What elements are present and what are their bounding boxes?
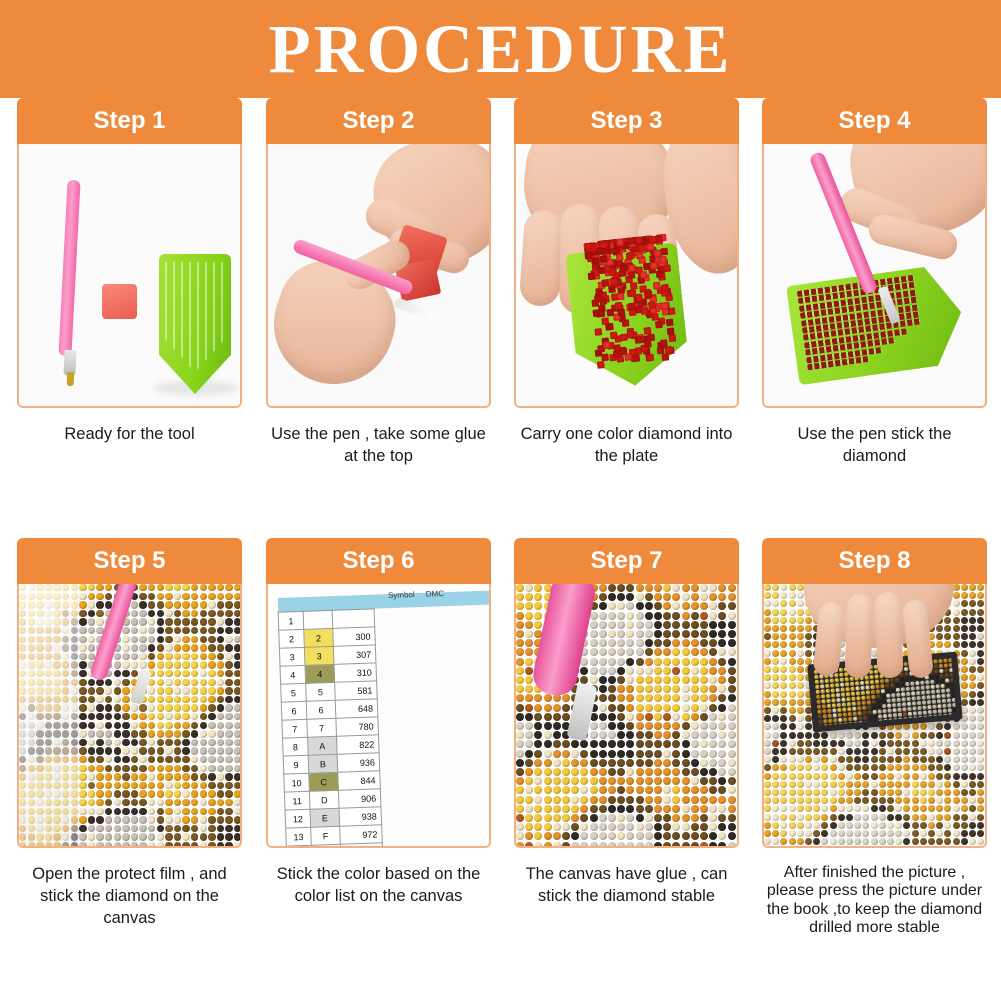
diamond-bead	[863, 711, 867, 715]
diamond-bead	[837, 703, 841, 707]
diamond-bead	[217, 670, 224, 677]
diamond-bead	[797, 625, 804, 632]
diamond-bead	[157, 808, 164, 815]
diamond-bead	[208, 730, 215, 737]
diamond-bead	[916, 691, 920, 695]
diamond-bead	[879, 748, 886, 755]
diamond-bead	[797, 707, 804, 714]
diamond-bead	[872, 705, 876, 709]
diamond-bead	[525, 713, 533, 721]
diamond-bead	[647, 243, 655, 251]
diamond-bead	[805, 773, 812, 780]
diamond-bead	[789, 814, 796, 821]
diamond-bead	[737, 796, 739, 804]
diamond-bead	[830, 764, 837, 771]
diamond-bead	[617, 667, 625, 675]
diamond-bead	[516, 777, 524, 785]
diamond-bead	[903, 822, 910, 829]
diamond-bead	[906, 687, 910, 691]
diamond-bead	[645, 630, 653, 638]
diamond-bead	[599, 584, 607, 592]
diamond-bead	[780, 805, 787, 812]
diamond-bead	[944, 781, 951, 788]
diamond-bead	[691, 612, 699, 620]
diamond-bead	[191, 636, 198, 643]
diamond-bead	[165, 773, 172, 780]
diamond-bead	[139, 653, 146, 660]
diamond-bead	[617, 823, 625, 831]
diamond-bead	[805, 781, 812, 788]
diamond-bead	[953, 617, 960, 624]
diamond-bead	[977, 674, 984, 681]
diamond-bead	[672, 639, 680, 647]
diamond-bead	[828, 719, 832, 723]
diamond-bead	[122, 842, 129, 848]
color-list-table: 12230033307443105558166648777808A8229B93…	[278, 608, 384, 848]
diamond-bead	[672, 722, 680, 730]
diamond-bead	[525, 759, 533, 767]
diamond-bead	[885, 679, 889, 683]
diamond-bead	[580, 768, 588, 776]
diamond-bead	[830, 822, 837, 829]
diamond-bead	[225, 679, 232, 686]
diamond-bead	[191, 747, 198, 754]
diamond-bead	[930, 680, 934, 684]
diamond-bead	[139, 722, 146, 729]
diamond-bead	[814, 675, 818, 679]
step-3-label: Step 3	[590, 107, 662, 135]
diamond-bead	[208, 661, 215, 668]
diamond-bead	[920, 723, 927, 730]
step-card-1: Step 1 Ready for the tool	[17, 98, 242, 446]
diamond-bead	[96, 833, 103, 840]
diamond-bead	[122, 670, 129, 677]
diamond-bead	[977, 641, 984, 648]
diamond-bead	[663, 593, 671, 601]
diamond-bead	[951, 693, 955, 697]
diamond-bead	[96, 704, 103, 711]
diamond-bead	[709, 750, 717, 758]
diamond-bead	[208, 808, 215, 815]
diamond-bead	[890, 683, 894, 687]
diamond-bead	[654, 667, 662, 675]
diamond-bead	[682, 602, 690, 610]
diamond-bead	[516, 740, 524, 748]
diamond-bead	[617, 621, 625, 629]
diamond-bead	[853, 717, 857, 721]
diamond-bead	[148, 773, 155, 780]
diamond-bead	[985, 715, 987, 722]
diamond-bead	[830, 814, 837, 821]
diamond-bead	[645, 805, 653, 813]
diamond-bead	[614, 344, 622, 352]
diamond-bead	[780, 773, 787, 780]
scene-canvas-glue	[516, 584, 737, 846]
diamond-bead	[928, 822, 935, 829]
diamond-bead	[789, 682, 796, 689]
diamond-bead	[525, 796, 533, 804]
diamond-bead	[174, 618, 181, 625]
diamond-bead	[728, 759, 736, 767]
diamond-bead	[525, 593, 533, 601]
diamond-bead	[780, 830, 787, 837]
diamond-bead	[599, 676, 607, 684]
diamond-bead	[805, 732, 812, 739]
diamond-bead	[709, 584, 717, 592]
diamond-bead	[139, 816, 146, 823]
diamond-bead	[191, 593, 198, 600]
diamond-bead	[895, 748, 902, 755]
diamond-bead	[903, 789, 910, 796]
diamond-bead	[718, 740, 726, 748]
diamond-bead	[905, 682, 909, 686]
diamond-bead	[666, 318, 674, 326]
diamond-bead	[516, 602, 524, 610]
diamond-bead	[961, 691, 968, 698]
diamond-bead	[148, 618, 155, 625]
row-symbol: 4	[305, 664, 335, 683]
diamond-bead	[930, 675, 934, 679]
diamond-bead	[780, 609, 787, 616]
diamond-bead	[985, 666, 987, 673]
diamond-bead	[599, 694, 607, 702]
diamond-bead	[516, 694, 524, 702]
diamond-bead	[217, 730, 224, 737]
diamond-bead	[182, 696, 189, 703]
diamond-bead	[157, 722, 164, 729]
step-6-label: Step 6	[342, 547, 414, 575]
diamond-bead	[217, 687, 224, 694]
diamond-bead	[191, 773, 198, 780]
diamond-bead	[591, 300, 599, 308]
diamond-bead	[728, 842, 736, 848]
diamond-bead	[833, 713, 837, 717]
diamond-bead	[217, 825, 224, 832]
diamond-bead	[977, 723, 984, 730]
diamond-bead	[934, 669, 938, 673]
diamond-bead	[878, 714, 882, 718]
diamond-bead	[700, 814, 708, 822]
diamond-bead	[602, 354, 610, 362]
diamond-bead	[234, 747, 241, 754]
diamond-bead	[819, 725, 823, 726]
diamond-bead	[900, 677, 904, 681]
diamond-bead	[985, 789, 987, 796]
diamond-bead	[191, 765, 198, 772]
diamond-bead	[626, 658, 634, 666]
diamond-bead	[208, 670, 215, 677]
diamond-bead	[139, 756, 146, 763]
diamond-bead	[525, 685, 533, 693]
diamond-bead	[562, 786, 570, 794]
diamond-bead	[626, 823, 634, 831]
row-number: 11	[284, 791, 310, 810]
diamond-bead	[821, 805, 828, 812]
diamond-bead	[544, 731, 552, 739]
diamond-bead	[217, 790, 224, 797]
diamond-bead	[985, 650, 987, 657]
diamond-bead	[846, 764, 853, 771]
diamond-bead	[599, 685, 607, 693]
diamond-bead	[797, 617, 804, 624]
step-7-header: Step 7	[514, 538, 739, 584]
diamond-bead	[553, 786, 561, 794]
diamond-bead	[96, 584, 103, 591]
diamond-bead	[813, 732, 820, 739]
diamond-bead	[608, 612, 616, 620]
diamond-bead	[835, 678, 839, 682]
row-number: 12	[285, 809, 311, 828]
diamond-bead	[174, 653, 181, 660]
diamond-bead	[821, 838, 828, 845]
diamond-bead	[977, 797, 984, 804]
diamond-bead	[764, 764, 771, 771]
diamond-bead	[700, 740, 708, 748]
diamond-bead	[931, 695, 935, 699]
diamond-bead	[691, 722, 699, 730]
diamond-bead	[928, 781, 935, 788]
diamond-bead	[148, 790, 155, 797]
diamond-bead	[629, 289, 637, 297]
diamond-bead	[182, 687, 189, 694]
diamond-bead	[985, 732, 987, 739]
diamond-bead	[590, 786, 598, 794]
diamond-bead	[148, 730, 155, 737]
row-number: 3	[279, 647, 305, 666]
diamond-bead	[764, 600, 771, 607]
diamond-bead	[700, 685, 708, 693]
diamond-bead	[157, 670, 164, 677]
diamond-bead	[969, 797, 976, 804]
diamond-bead	[691, 593, 699, 601]
diamond-bead	[645, 602, 653, 610]
diamond-bead	[165, 756, 172, 763]
diamond-bead	[817, 710, 821, 714]
diamond-bead	[764, 715, 771, 722]
diamond-bead	[200, 610, 207, 617]
diamond-bead	[590, 832, 598, 840]
diamond-bead	[617, 796, 625, 804]
diamond-bead	[131, 730, 138, 737]
diamond-bead	[625, 252, 633, 260]
diamond-bead	[682, 805, 690, 813]
diamond-bead	[617, 293, 625, 301]
diamond-bead	[672, 768, 680, 776]
diamond-bead	[928, 756, 935, 763]
diamond-bead	[895, 838, 902, 845]
diamond-bead	[225, 816, 232, 823]
diamond-bead	[617, 786, 625, 794]
diamond-bead	[191, 661, 198, 668]
row-symbol: D	[309, 790, 339, 809]
scene-color-list: Symbol DMC 12230033307443105558166648777…	[268, 584, 489, 846]
diamond-bead	[626, 750, 634, 758]
diamond-bead	[79, 790, 86, 797]
diamond-bead	[174, 790, 181, 797]
diamond-bead	[848, 712, 852, 716]
diamond-bead	[772, 584, 779, 591]
diamond-bead	[234, 584, 241, 591]
diamond-bead	[961, 682, 968, 689]
diamond-bead	[157, 601, 164, 608]
diamond-bead	[944, 822, 951, 829]
step-5-header: Step 5	[17, 538, 242, 584]
diamond-bead	[610, 278, 618, 286]
diamond-bead	[891, 693, 895, 697]
diamond-bead	[599, 786, 607, 794]
diamond-bead	[893, 718, 897, 722]
diamond-bead	[921, 691, 925, 695]
diamond-bead	[114, 790, 121, 797]
diamond-bead	[805, 633, 812, 640]
diamond-bead	[122, 704, 129, 711]
diamond-bead	[599, 805, 607, 813]
diamond-bead	[940, 674, 944, 678]
diamond-bead	[636, 621, 644, 629]
diamond-bead	[789, 691, 796, 698]
diamond-bead	[114, 765, 121, 772]
diamond-bead	[208, 722, 215, 729]
diamond-bead	[553, 805, 561, 813]
diamond-bead	[836, 698, 840, 702]
diamond-bead	[165, 618, 172, 625]
diamond-bead	[516, 722, 524, 730]
diamond-bead	[948, 713, 952, 717]
diamond-bead	[208, 679, 215, 686]
diamond-bead	[96, 687, 103, 694]
diamond-bead	[933, 710, 937, 714]
diamond-bead	[862, 732, 869, 739]
diamond-bead	[217, 722, 224, 729]
diamond-bead	[977, 781, 984, 788]
diamond-bead	[928, 797, 935, 804]
diamond-bead	[700, 630, 708, 638]
diamond-bead	[571, 750, 579, 758]
diamond-bead	[718, 648, 726, 656]
diamond-bead	[888, 718, 892, 722]
diamond-bead	[969, 781, 976, 788]
diamond-bead	[165, 799, 172, 806]
diamond-bead	[737, 722, 739, 730]
diamond-bead	[553, 759, 561, 767]
diamond-bead	[599, 740, 607, 748]
diamond-bead	[191, 816, 198, 823]
diamond-bead	[944, 732, 951, 739]
diamond-bead	[191, 627, 198, 634]
diamond-bead	[200, 696, 207, 703]
diamond-bead	[79, 833, 86, 840]
diamond-bead	[617, 630, 625, 638]
diamond-bead	[862, 756, 869, 763]
diamond-bead	[896, 688, 900, 692]
diamond-bead	[985, 723, 987, 730]
diamond-bead	[700, 768, 708, 776]
diamond-bead	[837, 708, 841, 712]
diamond-bead	[862, 822, 869, 829]
diamond-bead	[969, 838, 976, 845]
diamond-bead	[682, 685, 690, 693]
diamond-bead	[114, 687, 121, 694]
diamond-bead	[182, 644, 189, 651]
diamond-bead	[79, 696, 86, 703]
diamond-bead	[626, 777, 634, 785]
diamond-bead	[131, 842, 138, 848]
diamond-bead	[516, 786, 524, 794]
diamond-bead	[831, 698, 835, 702]
diamond-bead	[985, 699, 987, 706]
diamond-bead	[534, 694, 542, 702]
diamond-bead	[910, 681, 914, 685]
diamond-bead	[839, 723, 843, 726]
diamond-bead	[217, 601, 224, 608]
diamond-bead	[691, 777, 699, 785]
diamond-bead	[105, 782, 112, 789]
diamond-bead	[928, 838, 935, 845]
diamond-bead	[534, 593, 542, 601]
diamond-bead	[79, 713, 86, 720]
diamond-bead	[645, 750, 653, 758]
diamond-bead	[953, 814, 960, 821]
diamond-bead	[903, 838, 910, 845]
diamond-bead	[737, 768, 739, 776]
diamond-bead	[544, 750, 552, 758]
procedure-poster: PROCEDURE Step 1	[0, 0, 1001, 1001]
diamond-bead	[157, 584, 164, 591]
diamond-bead	[626, 612, 634, 620]
diamond-bead	[764, 723, 771, 730]
diamond-bead	[165, 601, 172, 608]
diamond-bead	[780, 617, 787, 624]
diamond-bead	[534, 777, 542, 785]
diamond-bead	[977, 699, 984, 706]
diamond-bead	[208, 713, 215, 720]
diamond-bead	[830, 756, 837, 763]
diamond-bead	[700, 796, 708, 804]
diamond-bead	[865, 680, 869, 684]
diamond-bead	[88, 601, 95, 608]
diamond-bead	[122, 653, 129, 660]
diamond-bead	[797, 814, 804, 821]
diamond-bead	[912, 701, 916, 705]
diamond-bead	[617, 685, 625, 693]
diamond-bead	[88, 687, 95, 694]
diamond-bead	[682, 786, 690, 794]
diamond-bead	[855, 686, 859, 690]
diamond-bead	[654, 648, 662, 656]
step-7-label: Step 7	[590, 547, 662, 575]
diamond-bead	[165, 730, 172, 737]
diamond-bead	[961, 625, 968, 632]
diamond-bead	[764, 699, 771, 706]
diamond-bead	[873, 710, 877, 714]
diamond-bead	[148, 825, 155, 832]
diamond-bead	[941, 689, 945, 693]
diamond-bead	[516, 796, 524, 804]
diamond-bead	[608, 750, 616, 758]
diamond-bead	[645, 667, 653, 675]
diamond-bead	[903, 732, 910, 739]
diamond-bead	[700, 621, 708, 629]
diamond-bead	[148, 636, 155, 643]
diamond-bead	[672, 842, 680, 848]
diamond-bead	[225, 790, 232, 797]
diamond-bead	[700, 584, 708, 592]
diamond-bead	[946, 683, 950, 687]
diamond-bead	[217, 610, 224, 617]
diamond-bead	[854, 764, 861, 771]
diamond-bead	[797, 748, 804, 755]
diamond-bead	[846, 697, 850, 701]
